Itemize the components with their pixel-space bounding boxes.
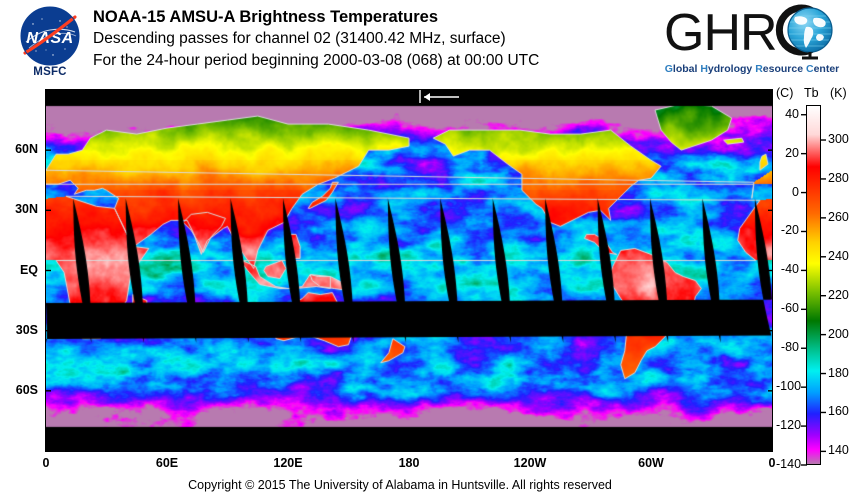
title-subtitle-period: For the 24-hour period beginning 2000-03…	[93, 50, 673, 72]
colorbar-unit-kelvin: (K)	[830, 86, 847, 100]
title-block: NOAA-15 AMSU-A Brightness Temperatures D…	[93, 7, 673, 72]
colorbar-kelvin-label: 280	[828, 171, 849, 185]
svg-text:GHR: GHR	[664, 4, 777, 62]
ghrc-logo: GHR Global Hydrology Resource Center	[662, 4, 842, 80]
map-yaxis-label: 60S	[0, 383, 38, 397]
colorbar-kelvin-label: 220	[828, 288, 849, 302]
colorbar-kelvin-label: 300	[828, 132, 849, 146]
nasa-meatball-icon: NASA	[20, 6, 80, 66]
colorbar-celsius-label: 0	[776, 185, 799, 199]
colorbar-celsius-label: -20	[776, 223, 799, 237]
ghrc-wordmark-icon: GHR	[662, 4, 842, 62]
map-plot-area[interactable]	[45, 89, 773, 452]
header: NASA MSFC NOAA-15 AMSU-A Brightness Temp…	[0, 0, 854, 86]
colorbar-gradient	[806, 105, 821, 465]
colorbar-kelvin-label: 180	[828, 366, 849, 380]
copyright-notice: Copyright © 2015 The University of Alaba…	[0, 478, 800, 492]
colorbar-celsius-label: -80	[776, 340, 799, 354]
colorbar: (C) Tb (K) 40200-20-40-60-80-100-120-140…	[776, 86, 854, 466]
map-yaxis-label: 60N	[0, 142, 38, 156]
colorbar-celsius-label: 40	[776, 107, 799, 121]
map-yaxis-label: 30S	[0, 323, 38, 337]
colorbar-kelvin-label: 160	[828, 404, 849, 418]
svg-text:Global Hydrology Resource Cent: Global Hydrology Resource Center	[665, 63, 840, 75]
nasa-center-label: MSFC	[14, 66, 86, 78]
colorbar-celsius-label: -60	[776, 301, 799, 315]
map-xaxis-label: 120E	[258, 456, 318, 470]
map-xaxis-label: 60E	[137, 456, 197, 470]
brightness-temperature-heatmap[interactable]	[46, 90, 772, 451]
ghrc-tagline: Global Hydrology Resource Center	[662, 60, 842, 76]
page-title: NOAA-15 AMSU-A Brightness Temperatures	[93, 7, 673, 28]
map-yaxis-label: 30N	[0, 202, 38, 216]
title-subtitle-channel: Descending passes for channel 02 (31400.…	[93, 28, 673, 50]
map-xaxis-label: 60W	[621, 456, 681, 470]
colorbar-kelvin-label: 200	[828, 327, 849, 341]
map-xaxis-label: 120W	[500, 456, 560, 470]
nasa-logo: NASA MSFC	[14, 6, 84, 84]
colorbar-celsius-label: 20	[776, 146, 799, 160]
colorbar-celsius-label: -40	[776, 262, 799, 276]
map-xaxis-label: 180	[379, 456, 439, 470]
colorbar-kelvin-label: 260	[828, 210, 849, 224]
colorbar-celsius-label: -100	[776, 379, 799, 393]
svg-text:NASA: NASA	[26, 30, 73, 47]
colorbar-variable-label: Tb	[804, 86, 819, 100]
colorbar-celsius-label: -120	[776, 418, 799, 432]
colorbar-unit-celsius: (C)	[776, 86, 793, 100]
colorbar-kelvin-label: 140	[828, 443, 849, 457]
map-xaxis-label: 0	[742, 456, 802, 470]
colorbar-kelvin-label: 240	[828, 249, 849, 263]
map-yaxis-label: EQ	[0, 263, 38, 277]
map-xaxis-label: 0	[16, 456, 76, 470]
